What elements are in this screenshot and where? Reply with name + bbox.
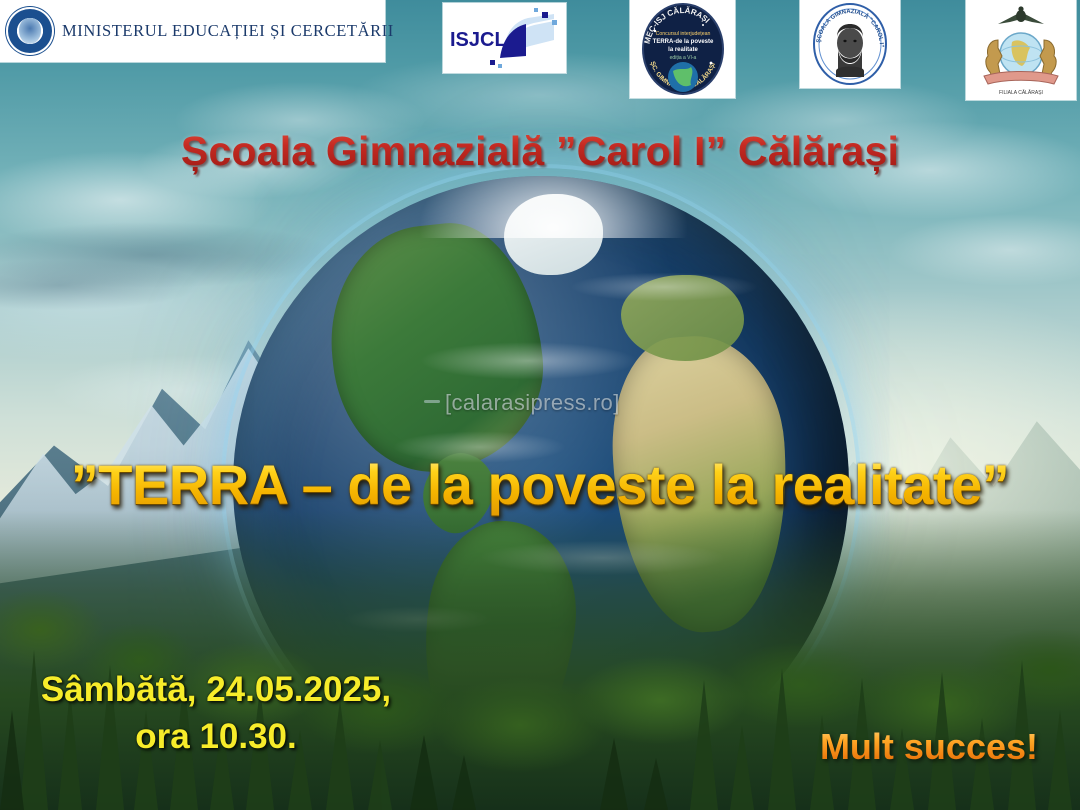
event-date-line-1: Sâmbătă, 24.05.2025, [16,666,416,713]
school-title: Școala Gimnazială ”Carol I” Călărași [0,128,1080,175]
terra-seal-line2: TERRA-de la poveste [652,39,713,45]
calarasi-coat-of-arms: FILIALA CĂLĂRAȘI [966,0,1076,100]
terra-seal-line3: la realitate [668,47,698,53]
terra-seal-line1: Concursul interjudețean [655,31,710,37]
romanian-government-seal-icon [6,7,54,55]
coat-of-arms-banner-label: FILIALA CĂLĂRAȘI [999,89,1043,96]
carol-i-school-seal: ȘCOALA GIMNAZIALĂ ”CAROL I” CĂLĂRAȘI [800,0,900,88]
ministry-logo-label: MINISTERUL EDUCAȚIEI ȘI CERCETĂRII [62,21,394,41]
contest-main-title: ”TERRA – de la poveste la realitate” [0,452,1080,517]
terra-seal-icon: MEC-ISJ CĂLĂRAȘI ȘC. GIMNAZIALĂ CĂLĂRAȘI… [633,1,733,97]
logo-bar: MINISTERUL EDUCAȚIEI ȘI CERCETĂRII ISJCL [0,0,1080,105]
ministry-of-education-logo: MINISTERUL EDUCAȚIEI ȘI CERCETĂRII [0,0,385,62]
coat-of-arms-icon: FILIALA CĂLĂRAȘI [968,2,1074,98]
good-luck-message: Mult succes! [820,726,1038,768]
isjcl-logo-label: ISJCL [450,29,507,51]
terra-seal-line4: ediția a VI-a [669,55,696,61]
isjcl-logo: ISJCL [443,3,566,73]
poster-canvas: MINISTERUL EDUCAȚIEI ȘI CERCETĂRII ISJCL [0,0,1080,810]
event-date-block: Sâmbătă, 24.05.2025, ora 10.30. [16,666,416,761]
carol-i-portrait-icon: ȘCOALA GIMNAZIALĂ ”CAROL I” CĂLĂRAȘI [802,1,898,87]
terra-contest-seal: MEC-ISJ CĂLĂRAȘI ȘC. GIMNAZIALĂ CĂLĂRAȘI… [630,0,735,98]
isjcl-book-icon: ISJCL [446,6,564,70]
source-watermark: [calarasipress.ro] [445,390,620,416]
watermark-dash-icon [424,400,440,403]
event-date-line-2: ora 10.30. [16,713,416,760]
